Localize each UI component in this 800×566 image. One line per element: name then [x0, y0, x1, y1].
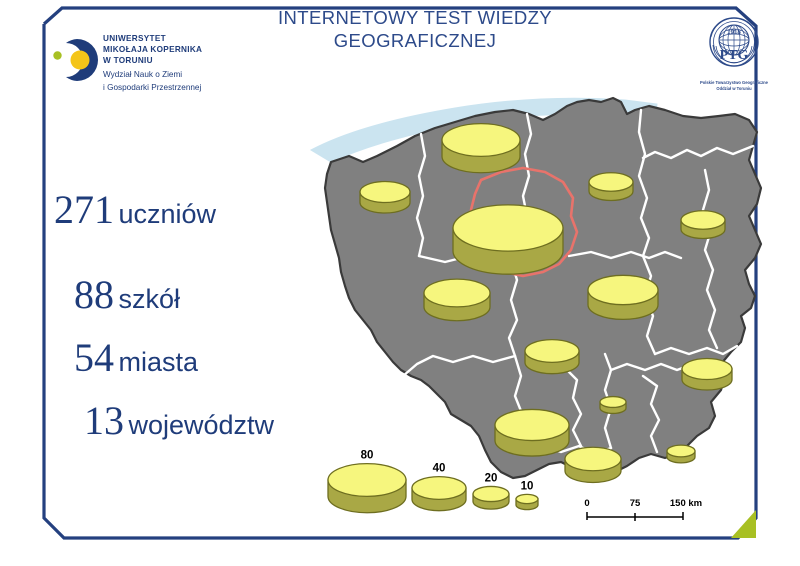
symbol-podlaskie [681, 211, 725, 239]
stat-wojewodztwa-label: województw [128, 410, 274, 440]
symbol-warmińsko-mazurskie [589, 173, 633, 201]
ptg-acronym-text: PTG [720, 48, 749, 63]
stat-uczniowie-label: uczniów [118, 199, 216, 229]
symbol-lubelskie [682, 359, 732, 391]
legend-symbol-20-top [473, 486, 509, 501]
umk-logo-mark-icon [50, 37, 100, 83]
umk-line-2: MIKOŁAJA KOPERNIKA [103, 44, 273, 55]
symbol-łódzkie [525, 340, 579, 374]
symbol-małopolskie-top [565, 447, 621, 471]
stat-uczniowie-number: 271 [54, 187, 114, 232]
legend-symbol-10-top [516, 494, 538, 503]
stat-wojewodztwa-number: 13 [84, 398, 124, 443]
scalebar-tick-150: 150 km [670, 498, 702, 509]
symbol-zachodniopomorskie-top [360, 182, 410, 203]
umk-logo: UNIWERSYTET MIKOŁAJA KOPERNIKA W TORUNIU… [50, 33, 270, 93]
page-title-line-1: INTERNETOWY TEST WIEDZY [278, 7, 552, 28]
stat-uczniowie: 271 uczniów [32, 186, 312, 233]
symbol-lubelskie-top [682, 359, 732, 380]
legend-label-80: 80 [361, 450, 374, 462]
stat-miasta-number: 54 [74, 335, 114, 380]
symbol-świętokrzyskie-top [600, 397, 626, 408]
symbol-wielkopolskie [424, 279, 490, 321]
stat-miasta: 54 miasta [32, 334, 312, 381]
symbol-wielkopolskie-top [424, 279, 490, 307]
page-title: INTERNETOWY TEST WIEDZY GEOGRAFICZNEJ [250, 6, 580, 52]
legend-symbol-20 [473, 486, 509, 509]
legend-symbol-40-top [412, 477, 466, 500]
poster-root: UNIWERSYTET MIKOŁAJA KOPERNIKA W TORUNIU… [0, 0, 800, 566]
symbol-kujawsko-pomorskie [453, 205, 563, 274]
map-scalebar: 0 75 150 km [584, 498, 702, 521]
symbol-kujawsko-pomorskie-top [453, 205, 563, 251]
legend-symbol-80-top [328, 464, 406, 497]
symbol-zachodniopomorskie [360, 182, 410, 213]
ptg-year-text: 1918 [727, 29, 741, 36]
umk-line-3: W TORUNIU [103, 55, 273, 66]
page-title-line-2: GEOGRAFICZNEJ [250, 29, 580, 52]
scalebar-tick-0: 0 [584, 498, 589, 509]
symbol-łódzkie-top [525, 340, 579, 363]
stat-miasta-label: miasta [118, 347, 198, 377]
statistics-list: 271 uczniów 88 szkół 54 miasta 13 wojewó… [32, 186, 312, 444]
symbol-podkarpackie [667, 445, 695, 463]
scalebar-tick-75: 75 [630, 498, 641, 509]
umk-line-5: i Gospodarki Przestrzennej [103, 82, 273, 93]
poland-choropleth-map: 80402010 0 75 150 km [305, 80, 785, 540]
umk-line-1: UNIWERSYTET [103, 33, 273, 44]
stat-wojewodztwa: 13 województw [32, 397, 312, 444]
umk-logo-text: UNIWERSYTET MIKOŁAJA KOPERNIKA W TORUNIU… [103, 33, 273, 93]
symbol-podlaskie-top [681, 211, 725, 229]
symbol-mazowieckie [588, 275, 658, 319]
legend-label-10: 10 [521, 480, 534, 492]
umk-line-4: Wydział Nauk o Ziemi [103, 69, 273, 80]
symbol-małopolskie [565, 447, 621, 482]
stat-szkoly-label: szkół [118, 284, 180, 314]
legend-symbol-40 [412, 477, 466, 511]
legend-symbol-80 [328, 464, 406, 513]
symbol-warmińsko-mazurskie-top [589, 173, 633, 191]
stat-szkoly-number: 88 [74, 272, 114, 317]
ptg-logo-emblem-icon: 1918 PTG [694, 12, 774, 74]
symbol-mazowieckie-top [588, 275, 658, 304]
symbol-świętokrzyskie [600, 397, 626, 414]
symbol-dolnośląskie [495, 409, 569, 456]
legend-label-20: 20 [485, 472, 498, 484]
legend-label-40: 40 [433, 463, 446, 475]
symbol-pomorskie [442, 124, 520, 173]
scalebar-line [587, 512, 683, 521]
symbol-dolnośląskie-top [495, 409, 569, 440]
legend-symbol-10 [516, 494, 538, 509]
symbol-podkarpackie-top [667, 445, 695, 457]
stat-szkoly: 88 szkół [32, 271, 312, 318]
symbol-pomorskie-top [442, 124, 520, 157]
